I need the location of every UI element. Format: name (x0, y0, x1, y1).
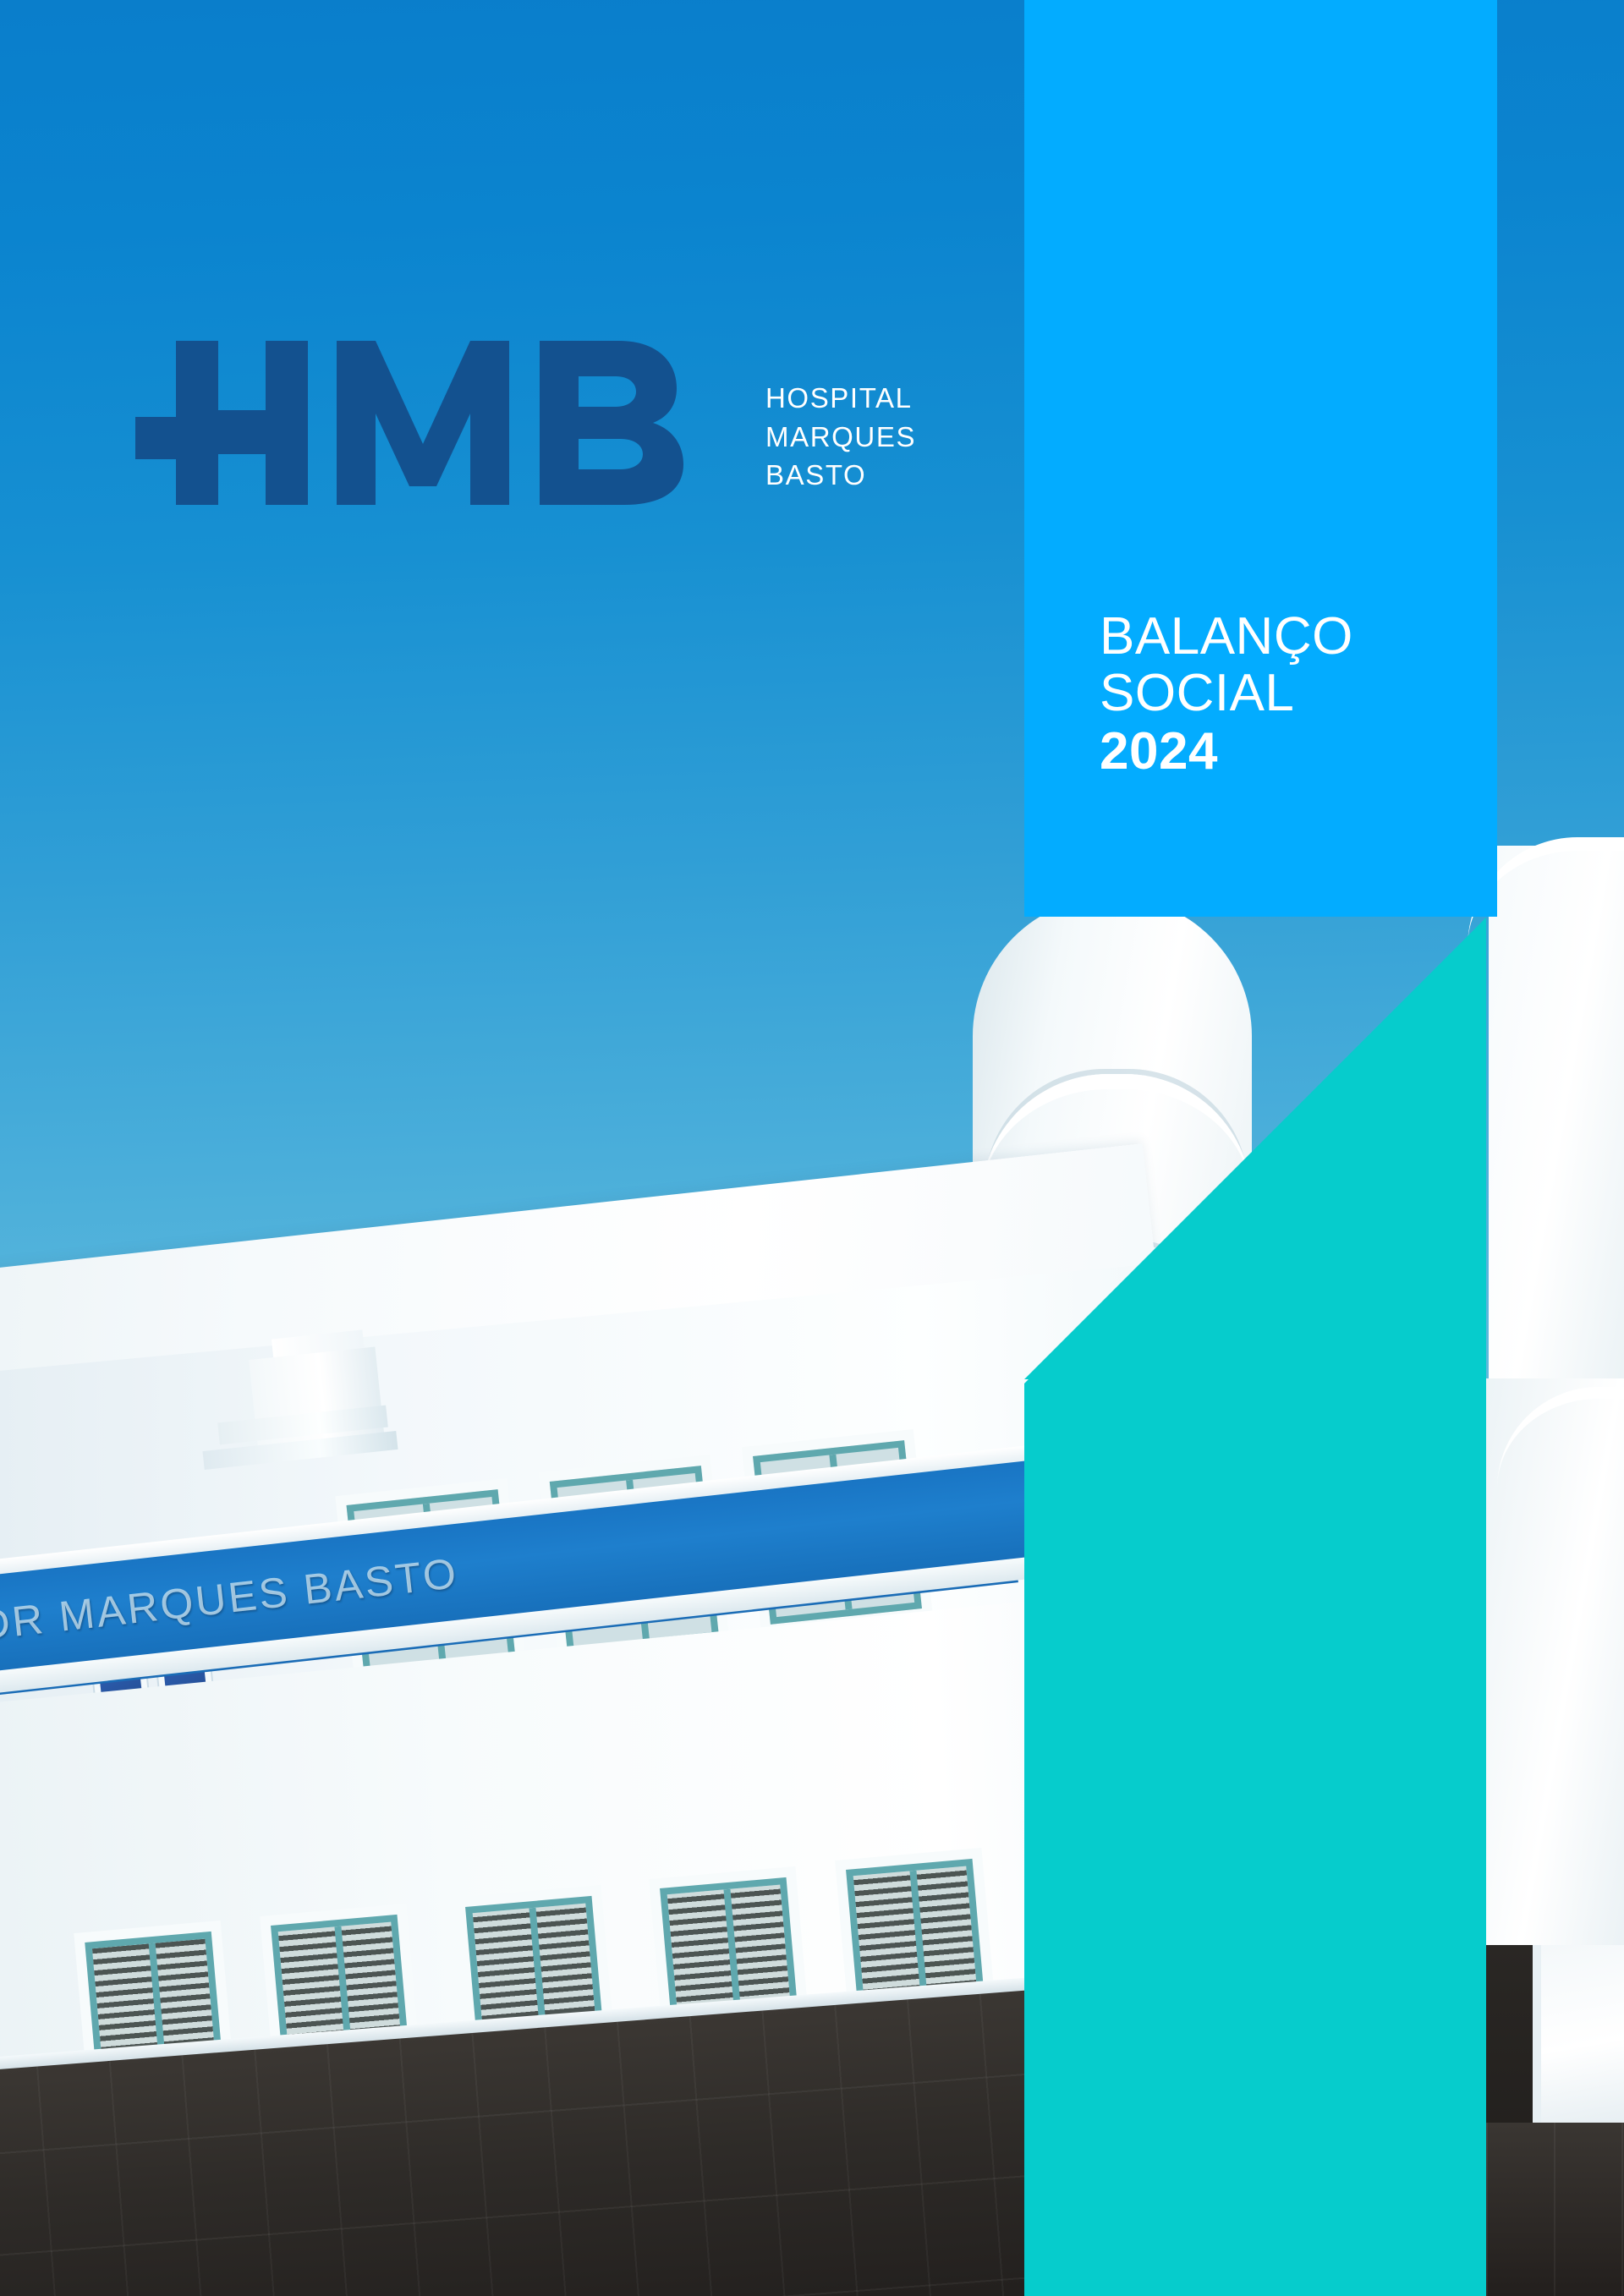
wordmark-line-2: MARQUES (765, 418, 916, 457)
right-edge-window (1533, 1945, 1624, 2127)
hmb-logo-mark (135, 326, 727, 520)
plus-cross-icon (135, 326, 727, 520)
wordmark-line-1: HOSPITAL (765, 379, 916, 418)
title-line-2: SOCIAL (1100, 666, 1353, 722)
cover-title: BALANÇO SOCIAL 2024 (1100, 609, 1353, 781)
hmb-logo-wordmark: HOSPITAL MARQUES BASTO (765, 379, 916, 495)
title-year: 2024 (1100, 722, 1353, 781)
title-line-1: BALANÇO (1100, 609, 1353, 666)
wordmark-line-3: BASTO (765, 456, 916, 495)
report-cover-page: NIDADE DR MARQUES BASTO (0, 0, 1624, 2296)
hmb-logo (135, 326, 727, 520)
right-edge-basalt (1486, 2123, 1624, 2296)
